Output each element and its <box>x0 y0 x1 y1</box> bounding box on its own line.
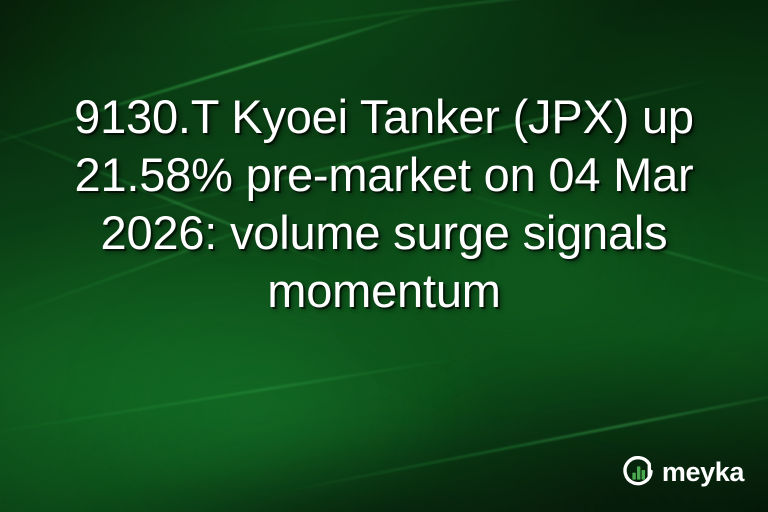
brand-logo: meyka <box>623 456 744 488</box>
social-share-card: 9130.T Kyoei Tanker (JPX) up 21.58% pre-… <box>0 0 768 512</box>
background-streak-4 <box>200 0 768 38</box>
headline-text: 9130.T Kyoei Tanker (JPX) up 21.58% pre-… <box>0 88 768 320</box>
background-streak-5 <box>0 356 470 442</box>
brand-name-text: meyka <box>662 459 744 486</box>
background-glow-1 <box>61 297 460 512</box>
meyka-chart-ring-icon <box>623 456 655 488</box>
